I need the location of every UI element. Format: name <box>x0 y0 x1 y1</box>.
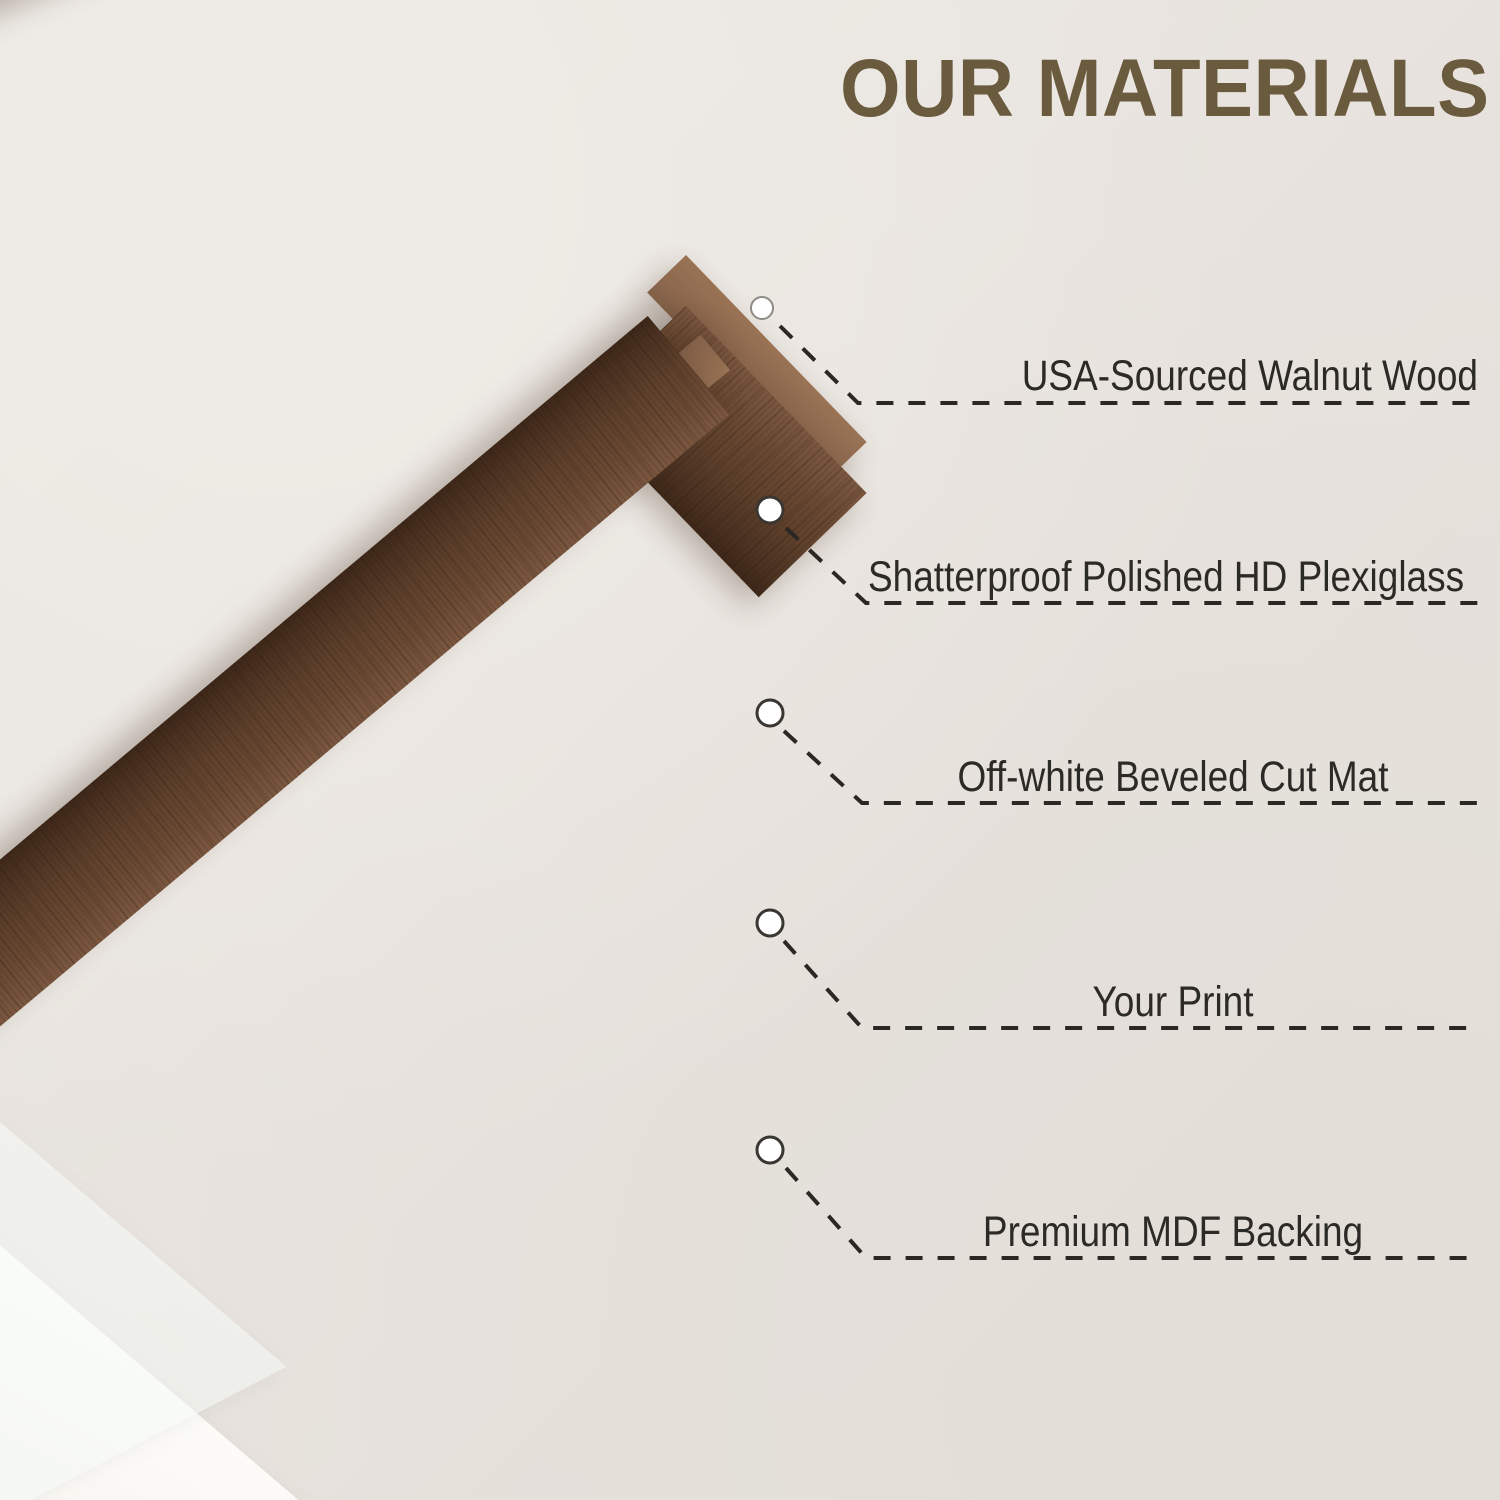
callout-leader-lines <box>0 0 1500 1500</box>
callout-label-plexiglass: Shatterproof Polished HD Plexiglass <box>868 556 1436 599</box>
callout-label-walnut-wood: USA-Sourced Walnut Wood <box>876 355 1478 398</box>
page-title: OUR MATERIALS <box>840 48 1486 130</box>
callout-group: USA-Sourced Walnut Wood Shatterproof Pol… <box>0 0 1500 1500</box>
callout-label-mdf-backing: Premium MDF Backing <box>911 1211 1436 1254</box>
callout-label-your-print: Your Print <box>911 981 1436 1024</box>
callout-label-cut-mat: Off-white Beveled Cut Mat <box>911 756 1436 799</box>
materials-infographic: USA-Sourced Walnut Wood Shatterproof Pol… <box>0 0 1500 1500</box>
